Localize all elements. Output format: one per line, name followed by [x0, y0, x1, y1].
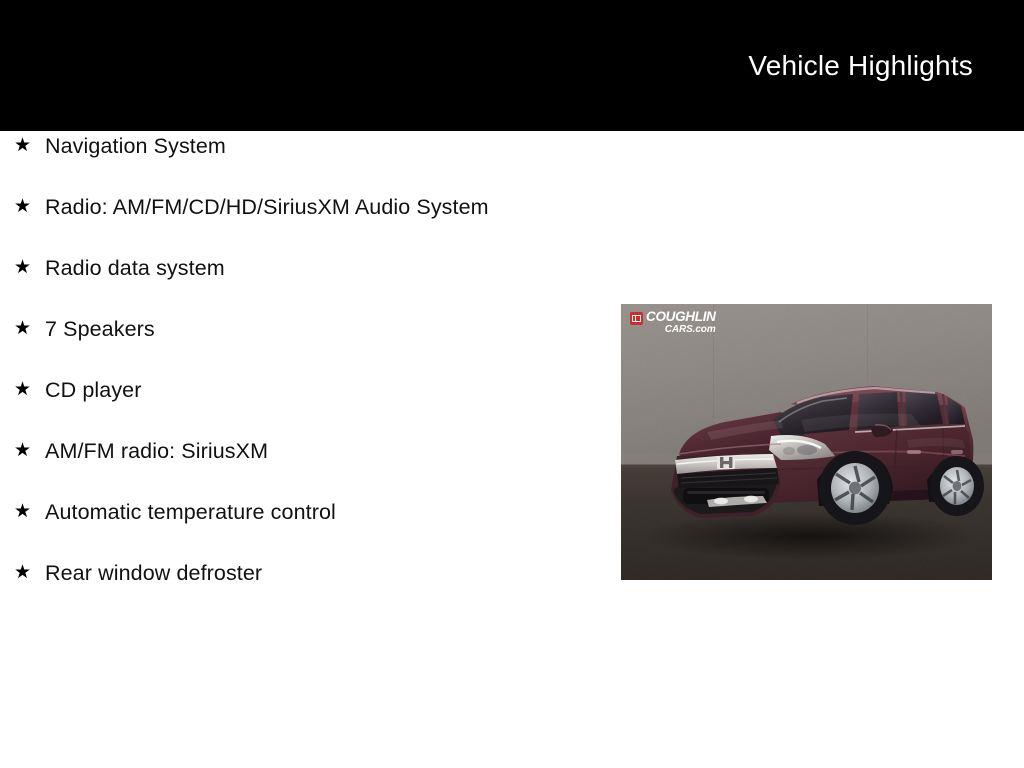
list-item-label: Rear window defroster	[45, 558, 600, 588]
list-item-label: 7 Speakers	[45, 314, 600, 344]
list-item: ★ Navigation System	[0, 131, 600, 161]
rear-wheel	[930, 456, 984, 516]
list-item-label: Navigation System	[45, 131, 600, 161]
list-item: ★ Rear window defroster	[0, 558, 600, 588]
page-title: Vehicle Highlights	[748, 49, 973, 83]
list-item-label: Radio data system	[45, 253, 600, 283]
list-item: ★ 7 Speakers	[0, 314, 600, 344]
list-item-label: AM/FM radio: SiriusXM	[45, 436, 600, 466]
list-item: ★ Radio: AM/FM/CD/HD/SiriusXM Audio Syst…	[0, 192, 600, 222]
list-item: ★ CD player	[0, 375, 600, 405]
vehicle-photo-image	[621, 304, 992, 580]
list-item-label: Automatic temperature control	[45, 497, 600, 527]
star-icon: ★	[14, 375, 31, 405]
star-icon: ★	[14, 497, 31, 527]
star-icon: ★	[14, 436, 31, 466]
front-wheel	[819, 451, 891, 525]
list-item-label: Radio: AM/FM/CD/HD/SiriusXM Audio System	[45, 192, 600, 222]
list-item-label: CD player	[45, 375, 600, 405]
header-banner: Vehicle Highlights	[0, 0, 1024, 131]
star-icon: ★	[14, 131, 31, 161]
list-item: ★ Automatic temperature control	[0, 497, 600, 527]
star-icon: ★	[14, 558, 31, 588]
star-icon: ★	[14, 192, 31, 222]
vehicle-highlights-list: ★ Navigation System ★ Radio: AM/FM/CD/HD…	[0, 131, 600, 619]
vehicle-photo: COUGHLIN CARS.com	[621, 304, 992, 580]
list-item: ★ AM/FM radio: SiriusXM	[0, 436, 600, 466]
list-item: ★ Radio data system	[0, 253, 600, 283]
honda-badge	[717, 456, 735, 469]
star-icon: ★	[14, 314, 31, 344]
star-icon: ★	[14, 253, 31, 283]
